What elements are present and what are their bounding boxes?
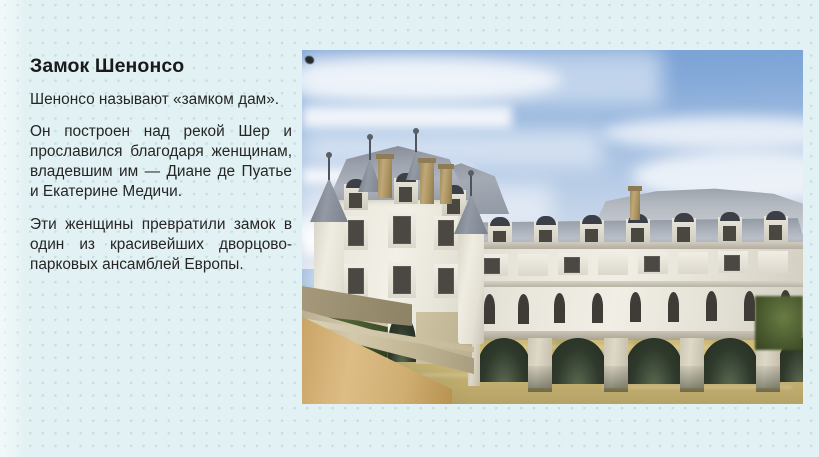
- window: [348, 220, 364, 246]
- arched-window: [592, 293, 603, 323]
- window-panel: [678, 252, 708, 274]
- arched-window: [554, 293, 565, 323]
- right-shrubbery: [755, 296, 803, 350]
- window: [393, 216, 411, 244]
- turret-finial: [328, 156, 330, 180]
- chimney: [378, 158, 392, 198]
- window-panel: [758, 251, 788, 273]
- turret-finial: [470, 174, 472, 196]
- pier-waterline: [528, 366, 552, 392]
- gallery-base-course: [468, 331, 803, 340]
- gallery-string-course: [468, 281, 803, 287]
- arched-window: [484, 294, 495, 324]
- body-paragraph-1: Шенонсо называют «замком дам».: [30, 90, 292, 110]
- body-paragraph-3: Эти женщины превратили замок в один из к…: [30, 215, 292, 275]
- arched-window: [668, 292, 679, 322]
- arched-window: [744, 291, 755, 321]
- arched-window: [518, 294, 529, 324]
- body-paragraph-2: Он построен над рекой Шер и прославился …: [30, 122, 292, 202]
- arched-window: [706, 291, 717, 321]
- text-content-column: Замок Шенонсо Шенонсо называют «замком д…: [30, 55, 292, 275]
- window-panel: [518, 254, 548, 276]
- window: [438, 220, 454, 246]
- arched-window: [630, 292, 641, 322]
- window: [393, 266, 411, 294]
- chateau-photo: [302, 50, 803, 404]
- window: [724, 255, 740, 271]
- window-panel: [598, 253, 628, 275]
- window: [348, 268, 364, 294]
- dormer-window: [394, 178, 418, 204]
- image-artifact-speck: [305, 56, 314, 64]
- pier-waterline: [680, 366, 704, 392]
- window: [484, 258, 500, 274]
- chimney: [440, 168, 452, 204]
- pier-waterline: [604, 366, 628, 392]
- chimney: [420, 162, 434, 204]
- page-title: Замок Шенонсо: [30, 55, 292, 77]
- left-edge-highlight-band: [0, 0, 26, 457]
- dormer-window: [718, 217, 742, 243]
- turret: [458, 230, 484, 344]
- dormer-window: [764, 216, 788, 242]
- turret-finial: [415, 132, 417, 152]
- pier-waterline: [756, 366, 780, 392]
- chimney: [630, 190, 640, 220]
- slide-canvas: Замок Шенонсо Шенонсо называют «замком д…: [0, 0, 819, 457]
- window: [564, 257, 580, 273]
- window: [438, 268, 454, 294]
- window: [644, 256, 660, 272]
- dormer-window: [672, 218, 696, 244]
- gallery-cornice: [468, 242, 803, 249]
- turret-finial: [369, 138, 371, 160]
